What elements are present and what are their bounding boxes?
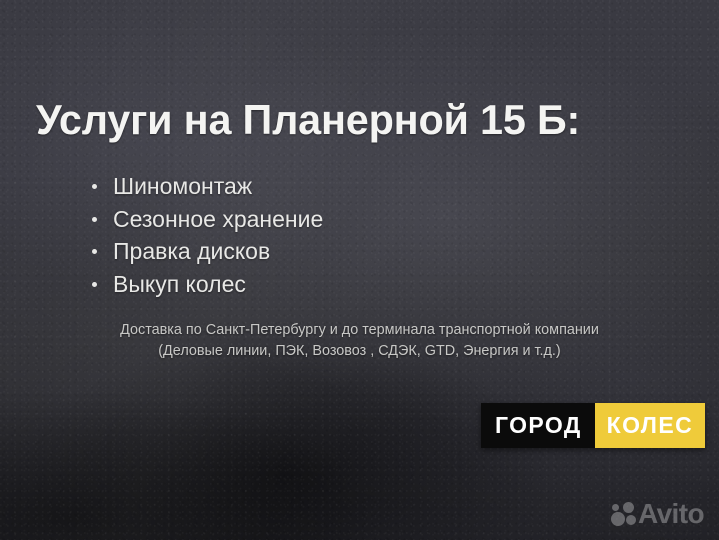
brand-logo-word-gorod: ГОРОД bbox=[481, 403, 595, 448]
brand-logo: ГОРОД КОЛЕС bbox=[481, 403, 705, 448]
delivery-note: Доставка по Санкт-Петербургу и до термин… bbox=[0, 320, 719, 362]
delivery-note-line-2: (Деловые линии, ПЭК, Возовоз , СДЭК, GTD… bbox=[0, 341, 719, 362]
slide-content: Услуги на Планерной 15 Б: Шиномонтаж Сез… bbox=[0, 0, 719, 540]
promo-slide: Услуги на Планерной 15 Б: Шиномонтаж Сез… bbox=[0, 0, 719, 540]
avito-dots-icon bbox=[611, 502, 637, 526]
avito-watermark: Avito bbox=[611, 500, 704, 528]
list-item: Правка дисков bbox=[88, 235, 323, 268]
brand-logo-word-koles: КОЛЕС bbox=[595, 403, 705, 448]
avito-watermark-label: Avito bbox=[638, 500, 704, 528]
services-list: Шиномонтаж Сезонное хранение Правка диск… bbox=[88, 170, 323, 300]
list-item: Шиномонтаж bbox=[88, 170, 323, 203]
delivery-note-line-1: Доставка по Санкт-Петербургу и до термин… bbox=[0, 320, 719, 341]
page-title: Услуги на Планерной 15 Б: bbox=[36, 96, 676, 144]
list-item: Выкуп колес bbox=[88, 268, 323, 301]
list-item: Сезонное хранение bbox=[88, 203, 323, 236]
